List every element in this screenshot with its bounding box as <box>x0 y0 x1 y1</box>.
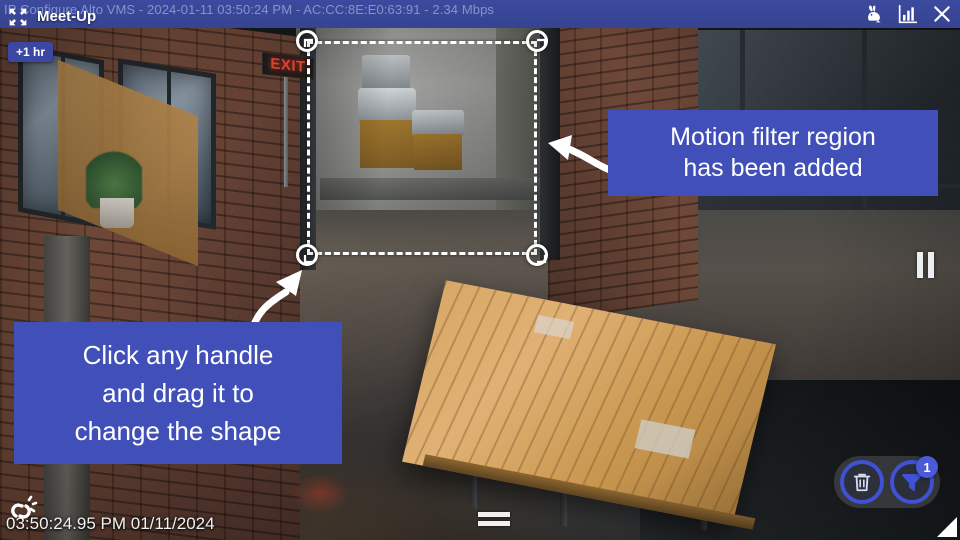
filter-count-badge: 1 <box>916 456 938 478</box>
tooltip-motion-line-2: has been added <box>618 153 928 184</box>
region-handle-top-left[interactable] <box>296 30 318 52</box>
broken-link-icon <box>4 494 38 528</box>
corner-bracket-icon <box>532 36 548 52</box>
bar-chart-stats-icon[interactable] <box>898 4 918 24</box>
tooltip-drag-handle: Click any handle and drag it to change t… <box>14 322 342 464</box>
motion-filter-region[interactable] <box>307 41 537 255</box>
trash-icon <box>851 471 873 493</box>
rabbit-speed-icon[interactable] <box>864 4 884 24</box>
scene-red-reflection <box>290 474 350 514</box>
resize-corner-icon[interactable] <box>936 516 958 538</box>
titlebar-actions <box>864 3 952 25</box>
scene-exit-pipe <box>284 77 288 187</box>
tooltip-handle-line-3: change the shape <box>24 412 332 450</box>
pause-bar-left <box>917 252 923 278</box>
camera-viewer: EXIT <box>0 0 960 540</box>
tooltip-handle-line-2: and drag it to <box>24 374 332 412</box>
window-titlebar: IP Configure Alto VMS - 2024-01-11 03:50… <box>0 0 960 28</box>
time-offset-badge[interactable]: +1 hr <box>8 42 53 62</box>
pause-button[interactable] <box>917 252 934 278</box>
corner-bracket-icon <box>302 36 318 52</box>
tooltip-handle-line-1: Click any handle <box>24 336 332 374</box>
tooltip-motion-line-1: Motion filter region <box>618 122 928 153</box>
region-handle-top-right[interactable] <box>526 30 548 52</box>
delete-region-button[interactable] <box>840 460 884 504</box>
region-handle-bottom-right[interactable] <box>526 244 548 266</box>
corner-bracket-icon <box>302 250 318 266</box>
camera-name-label: Meet-Up <box>37 7 96 27</box>
region-handle-bottom-left[interactable] <box>296 244 318 266</box>
scene-plant-pot <box>100 198 134 228</box>
pause-bar-right <box>928 252 934 278</box>
move-expand-icon <box>8 7 28 27</box>
panel-drag-handle[interactable] <box>478 512 510 530</box>
tooltip-motion-added: Motion filter region has been added <box>608 110 938 196</box>
corner-bracket-icon <box>532 250 548 266</box>
close-icon[interactable] <box>932 4 952 24</box>
titlebar-identity: Meet-Up <box>8 6 96 28</box>
filter-region-button[interactable]: 1 <box>890 460 934 504</box>
region-action-bar: 1 <box>834 456 940 508</box>
